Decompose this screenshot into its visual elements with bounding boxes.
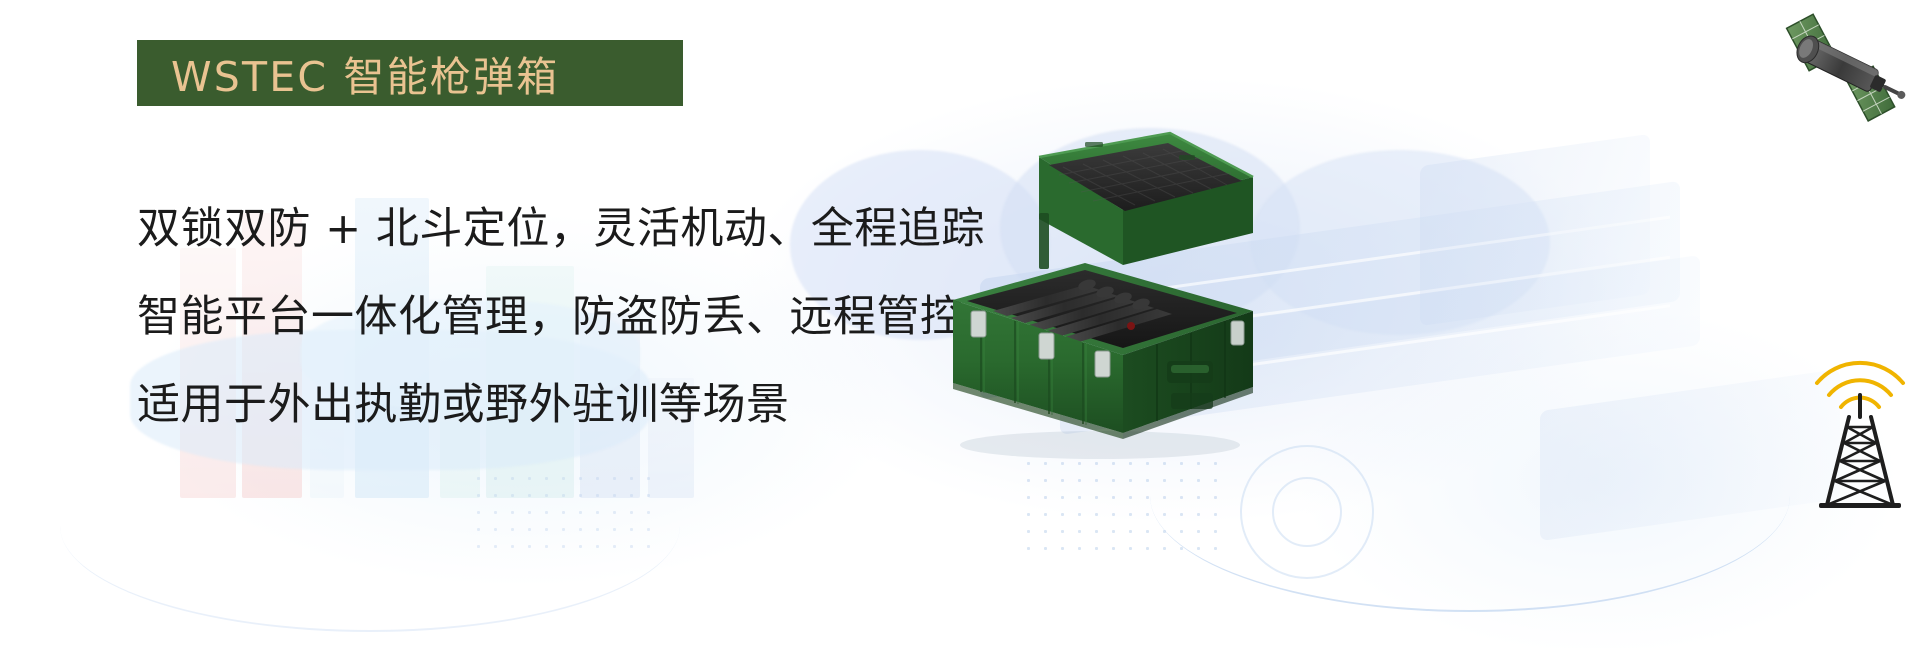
case-latch-side	[1231, 321, 1244, 345]
red-marker	[1127, 322, 1135, 330]
background-dot-grid	[470, 470, 650, 550]
feature-line-1: 双锁双防 + 北斗定位，灵活机动、全程追踪	[137, 185, 957, 273]
page-title: WSTEC 智能枪弹箱	[171, 43, 559, 103]
satellite-icon	[1780, 10, 1910, 125]
lid-label	[1179, 155, 1195, 160]
background-panel	[1540, 369, 1840, 541]
case-base	[953, 263, 1253, 439]
case-hinge	[1039, 213, 1049, 269]
feature-line-3: 适用于外出执勤或野外驻训等场景	[137, 361, 957, 449]
background-ring	[1272, 477, 1342, 547]
feature-list: 双锁双防 + 北斗定位，灵活机动、全程追踪 智能平台一体化管理，防盗防丢、远程管…	[137, 185, 957, 449]
lid-label	[1085, 142, 1103, 147]
background-dot-grid	[1020, 455, 1230, 550]
case-shadow	[960, 431, 1240, 459]
case-lid	[1039, 133, 1253, 265]
case-handle-grip	[1171, 365, 1209, 373]
signal-tower-glyph	[1805, 355, 1915, 510]
satellite-glyph	[1780, 10, 1910, 125]
tower-base	[1819, 503, 1901, 508]
background-panel	[1420, 134, 1650, 326]
title-banner: WSTEC 智能枪弹箱	[137, 40, 683, 106]
product-case-image	[935, 115, 1265, 460]
background-curve	[60, 420, 680, 632]
background-ring	[1240, 445, 1374, 579]
feature-line-2: 智能平台一体化管理，防盗防丢、远程管控	[137, 273, 957, 361]
signal-tower-icon	[1805, 355, 1915, 510]
product-banner: WSTEC 智能枪弹箱 双锁双防 + 北斗定位，灵活机动、全程追踪 智能平台一体…	[0, 0, 1920, 648]
ammunition-case-illustration	[935, 115, 1265, 460]
background-blob	[1250, 150, 1550, 335]
